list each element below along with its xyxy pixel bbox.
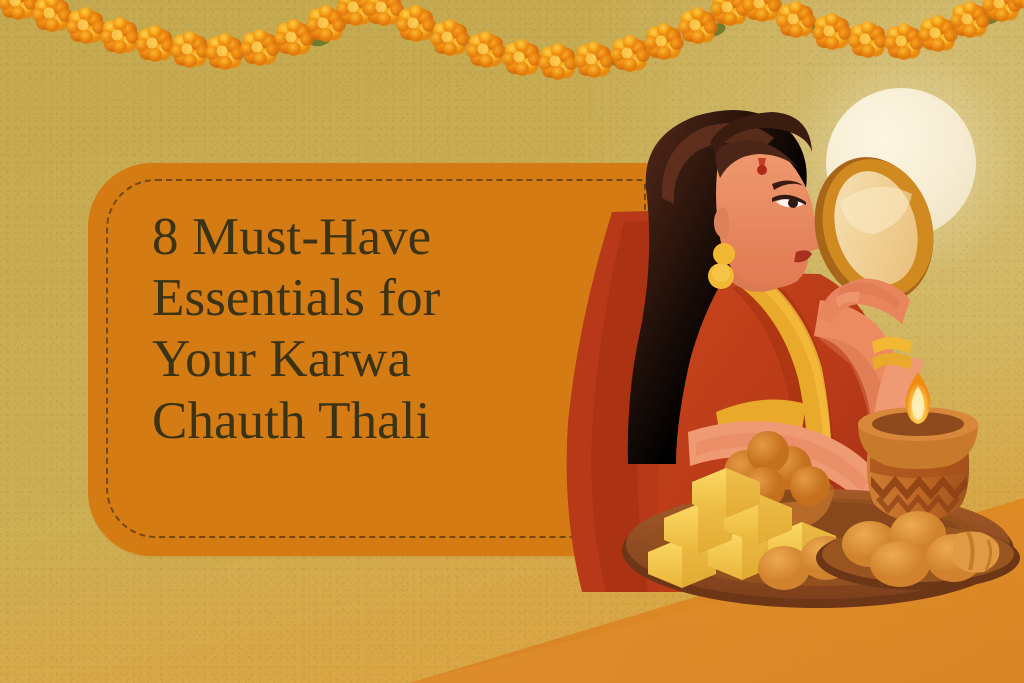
earring-upper (713, 243, 735, 265)
page-title: 8 Must-Have Essentials for Your Karwa Ch… (152, 207, 572, 452)
puja-thali (612, 372, 1024, 622)
mathri (870, 541, 930, 587)
ladoo (790, 466, 830, 506)
marigold-garland (0, 0, 1024, 104)
illustration-canvas: 8 Must-Have Essentials for Your Karwa Ch… (0, 0, 1024, 683)
hand-mirror (806, 148, 956, 348)
karwa-pot (858, 372, 978, 522)
ladoo (747, 431, 789, 473)
